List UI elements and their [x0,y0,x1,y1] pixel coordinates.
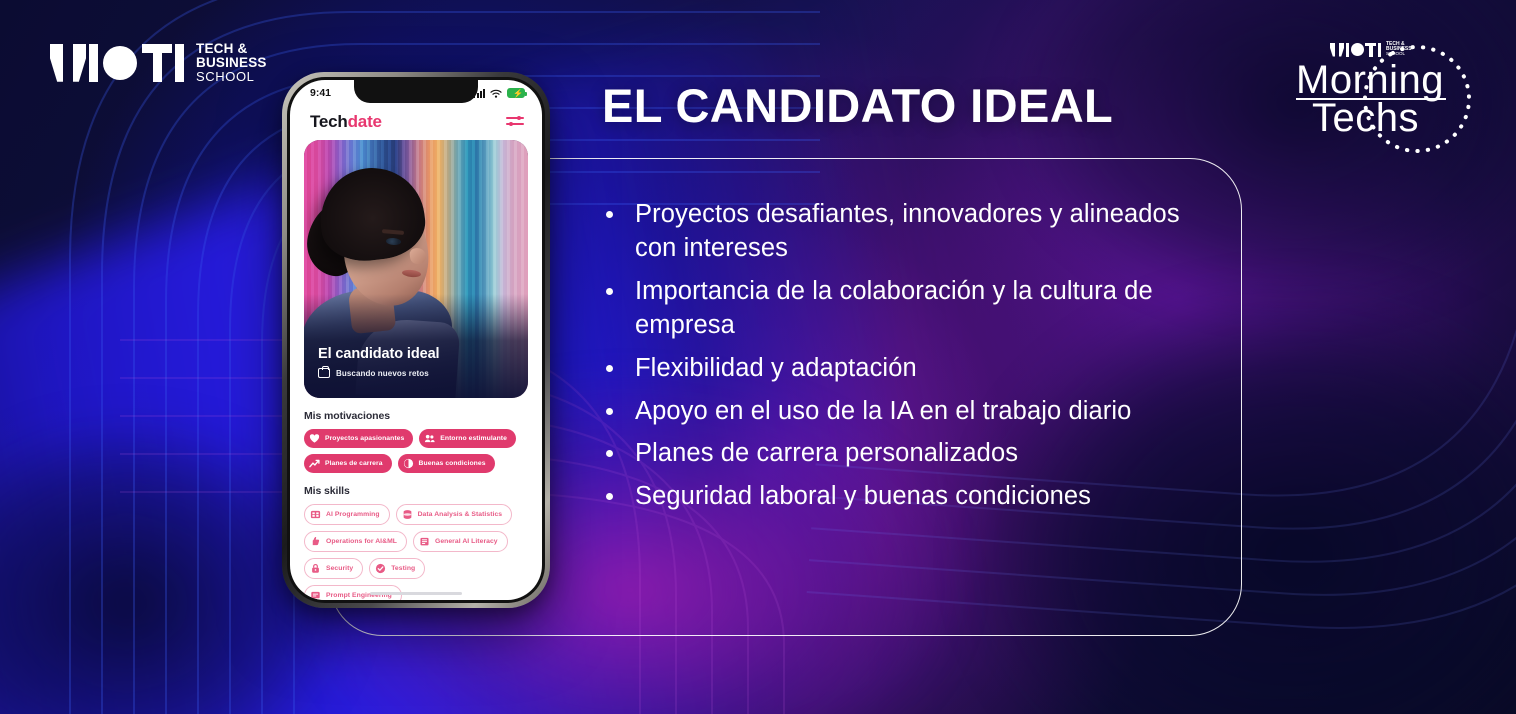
mioti-wordmark-glyphs [50,44,184,82]
letter-t-glyph [142,44,172,82]
mioti-tagline-line1: TECH & [196,42,267,56]
gear-hand-icon [310,536,321,547]
check-circle-icon [375,563,386,574]
skill-pill[interactable]: AI Programming [304,504,390,525]
bullet-dot-icon [606,450,613,457]
filter-sliders-icon[interactable] [506,115,524,129]
skill-pill[interactable]: Testing [369,558,425,579]
cellular-signal-icon [473,89,485,98]
book-icon [419,536,430,547]
status-bar: 9:41 ⚡ [290,80,542,106]
bullet-dot-icon [606,211,613,218]
app-header: Techdate [290,106,542,140]
skill-label: Operations for AI&ML [326,538,397,545]
card-caption: El candidato ideal Buscando nuevos retos [318,346,516,378]
briefcase-icon [318,368,330,378]
skill-pill[interactable]: General AI Literacy [413,531,508,552]
bullet-text: Seguridad laboral y buenas condiciones [635,480,1091,514]
wifi-icon [490,89,502,98]
skill-label: General AI Literacy [435,538,498,545]
letter-i-glyph [89,44,98,82]
motivation-label: Proyectos apasionantes [325,435,404,442]
people-icon [424,433,435,444]
trending-up-icon [309,458,320,469]
status-icons: ⚡ [473,88,525,98]
heart-icon [309,433,320,444]
list-item: Proyectos desafiantes, innovadores y ali… [600,198,1180,266]
mioti-tagline: TECH & BUSINESS SCHOOL [196,42,267,84]
bullet-text: Planes de carrera personalizados [635,437,1018,471]
page-title: EL CANDIDATO IDEAL [602,78,1113,133]
skill-label: Testing [391,565,415,572]
mt-letter-i2-glyph [1378,43,1382,57]
mt-tag-line3: SCHOOL [1386,51,1405,56]
bullet-dot-icon [606,408,613,415]
skill-pill[interactable]: Data Analysis & Statistics [396,504,513,525]
motivation-pill[interactable]: Planes de carrera [304,454,392,473]
bullet-text: Proyectos desafiantes, innovadores y ali… [635,198,1180,266]
morning-techs-mioti-mark: TECH & BUSINESS SCHOOL [1330,42,1412,57]
mioti-tagline-line2: BUSINESS [196,56,267,70]
skill-pill[interactable]: Security [304,558,363,579]
motivations-heading: Mis motivaciones [304,410,528,422]
phone-screen: 9:41 ⚡ Techdate [290,80,542,600]
chat-icon [310,590,321,600]
morning-techs-logo: TECH & BUSINESS SCHOOL Morning Techs [1282,34,1482,162]
app-brand: Techdate [310,112,382,132]
list-item: Importancia de la colaboración y la cult… [600,275,1180,343]
brand-part-tech: Tech [310,112,348,131]
brand-part-date: date [348,112,382,131]
phone-bezel: 9:41 ⚡ Techdate [287,77,545,603]
bullet-list: Proyectos desafiantes, innovadores y ali… [600,198,1180,523]
list-item: Flexibilidad y adaptación [600,352,1180,386]
bullet-text: Apoyo en el uso de la IA en el trabajo d… [635,395,1131,429]
card-title: El candidato ideal [318,346,516,362]
motivation-pill[interactable]: Entorno estimulante [419,429,516,448]
home-indicator [370,592,462,595]
motivations-pill-list: Proyectos apasionantes Entorno estimulan… [304,429,528,473]
slide-canvas: TECH & BUSINESS SCHOOL TECH & BUSINESS S… [0,0,1516,714]
bullet-text: Flexibilidad y adaptación [635,352,917,386]
mioti-logo: TECH & BUSINESS SCHOOL [50,42,267,84]
skills-section: Mis skills AI Programming Data Analysis … [290,485,542,600]
card-subtitle: Buscando nuevos retos [336,369,429,378]
motivation-pill[interactable]: Buenas condiciones [398,454,495,473]
letter-i2-glyph [175,44,184,82]
motivation-label: Entorno estimulante [440,435,507,442]
skill-label: Security [326,565,353,572]
bullet-dot-icon [606,365,613,372]
candidate-card[interactable]: El candidato ideal Buscando nuevos retos [304,140,528,398]
bullet-dot-icon [606,288,613,295]
database-icon [402,509,413,520]
list-item: Apoyo en el uso de la IA en el trabajo d… [600,395,1180,429]
motivation-pill[interactable]: Proyectos apasionantes [304,429,413,448]
letter-m-glyph [50,44,86,82]
motivation-label: Buenas condiciones [419,460,486,467]
letter-o-glyph [103,46,137,80]
motivation-label: Planes de carrera [325,460,383,467]
mt-letter-i-glyph [1346,43,1350,57]
list-item: Seguridad laboral y buenas condiciones [600,480,1180,514]
code-grid-icon [310,509,321,520]
coin-icon [403,458,414,469]
mt-letter-m-glyph [1330,43,1344,57]
morning-techs-line2: Techs [1312,96,1419,141]
skill-label: Data Analysis & Statistics [418,511,503,518]
phone-mockup: 9:41 ⚡ Techdate [282,72,550,608]
bullet-text: Importancia de la colaboración y la cult… [635,275,1180,343]
status-time: 9:41 [310,87,331,99]
skills-heading: Mis skills [304,485,528,497]
mt-letter-o-glyph [1351,43,1364,56]
motivations-section: Mis motivaciones Proyectos apasionantes … [290,410,542,473]
skill-label: AI Programming [326,511,380,518]
list-item: Planes de carrera personalizados [600,437,1180,471]
card-subtitle-row: Buscando nuevos retos [318,368,516,378]
mioti-tagline-line3: SCHOOL [196,70,267,84]
battery-charging-icon: ⚡ [507,88,525,98]
morning-techs-mioti-tagline: TECH & BUSINESS SCHOOL [1386,42,1412,57]
skill-pill[interactable]: Operations for AI&ML [304,531,407,552]
lock-icon [310,563,321,574]
mt-letter-t-glyph [1365,43,1376,57]
skills-pill-list: AI Programming Data Analysis & Statistic… [304,504,528,600]
bullet-dot-icon [606,493,613,500]
